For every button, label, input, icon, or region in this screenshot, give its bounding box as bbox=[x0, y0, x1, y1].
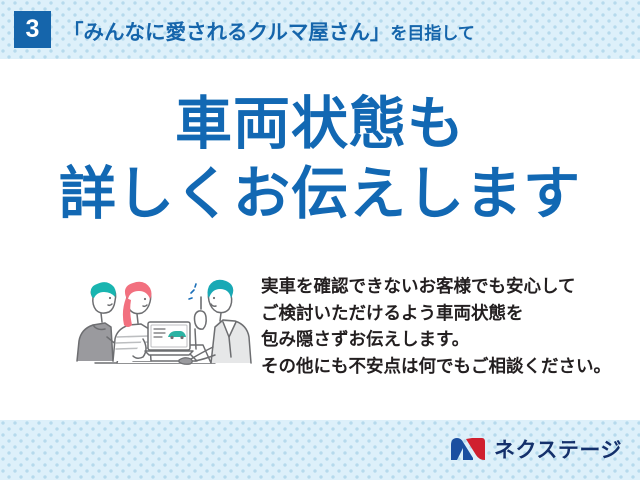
page-title-tail: を目指して bbox=[390, 24, 475, 43]
body-copy-line-4: その他にも不安点は何でもご相談ください。 bbox=[261, 353, 611, 380]
body-copy-line-2: ご検討いただけるよう車両状態を bbox=[261, 300, 611, 327]
brand-name: ネクステージ bbox=[494, 434, 622, 464]
section-number: 3 bbox=[26, 17, 40, 42]
banner-header: 3 「みんなに愛されるクルマ屋さん」を目指して bbox=[0, 0, 640, 59]
page-title: 「みんなに愛されるクルマ屋さん」を目指して bbox=[63, 15, 475, 45]
page-title-quoted: 「みんなに愛されるクルマ屋さん」 bbox=[63, 21, 390, 44]
content-card: 車両状態も 詳しくお伝えします bbox=[0, 59, 640, 420]
nextage-n-mark-icon bbox=[449, 436, 487, 462]
section-number-badge: 3 bbox=[14, 11, 51, 48]
body-copy-line-3: 包み隠さずお伝えします。 bbox=[261, 326, 611, 353]
headline-line-1: 車両状態も bbox=[0, 93, 640, 157]
headline: 車両状態も 詳しくお伝えします bbox=[0, 93, 640, 227]
banner-footer: ネクステージ bbox=[0, 420, 640, 480]
promo-banner: 3 「みんなに愛されるクルマ屋さん」を目指して 車両状態も 詳しくお伝えします bbox=[0, 0, 640, 480]
headline-line-2: 詳しくお伝えします bbox=[0, 163, 640, 227]
body-copy-line-1: 実車を確認できないお客様でも安心して bbox=[261, 273, 611, 300]
brand-logo: ネクステージ bbox=[449, 434, 622, 464]
body-copy: 実車を確認できないお客様でも安心して ご検討いただけるよう車両状態を 包み隠さず… bbox=[261, 273, 611, 379]
consultation-illustration bbox=[55, 267, 255, 379]
lower-row: 実車を確認できないお客様でも安心して ご検討いただけるよう車両状態を 包み隠さず… bbox=[0, 267, 640, 407]
